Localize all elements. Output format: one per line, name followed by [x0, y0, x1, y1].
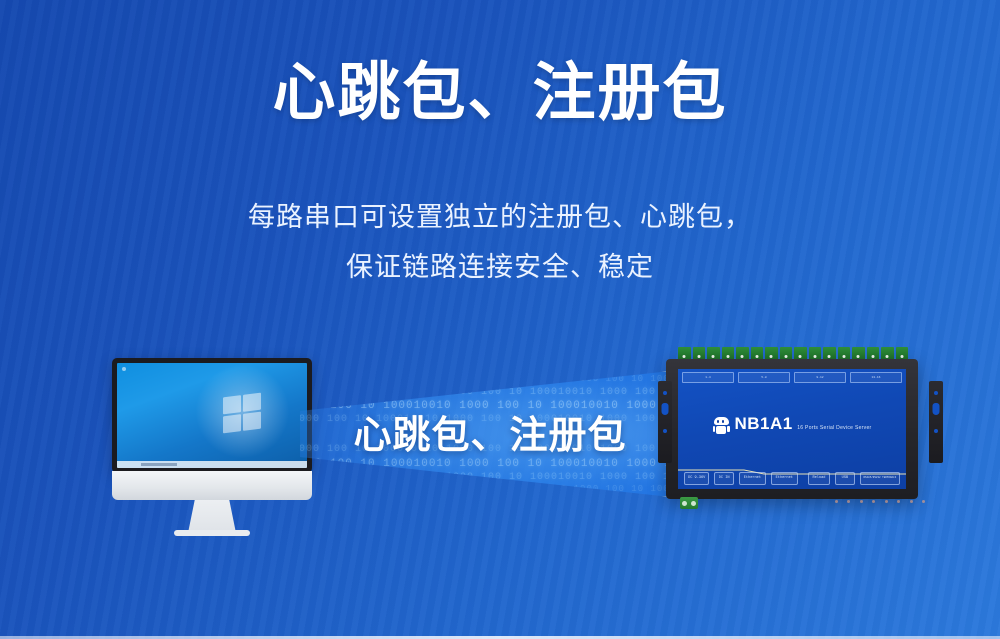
- port-group: 9-12: [794, 372, 846, 383]
- port-label-row: 1-4 5-8 9-12 13-16: [682, 372, 902, 383]
- connector-ethernet-2: Ethernet: [771, 472, 798, 485]
- stream-label: 心跳包、注册包: [300, 404, 680, 459]
- stream-edge-top: [300, 370, 680, 372]
- port-group-label: 13-16: [871, 376, 880, 379]
- mounting-bracket-right: [929, 381, 943, 463]
- reload-button[interactable]: Reload: [808, 472, 830, 485]
- windows-logo-pane: [223, 414, 241, 433]
- binary-row: 1000 100 10 100010010 1000 100 10 100010…: [300, 484, 680, 494]
- mounting-bracket-left: [658, 381, 672, 463]
- monitor-chin: [112, 471, 312, 500]
- page-subtitle: 每路串口可设置独立的注册包、心跳包， 保证链路连接安全、稳定: [0, 193, 1000, 293]
- monitor-frame: [112, 358, 312, 473]
- device-model-name: NB1A1: [735, 414, 793, 433]
- robot-eye: [722, 420, 725, 423]
- monitor-base: [174, 530, 250, 536]
- windows-logo-icon: [223, 392, 261, 433]
- binary-row: 1000 100 10 100010010 1000 100 10 100010…: [300, 387, 680, 398]
- connector-serial-terminals: RS485/RS232 TERMINALS: [860, 472, 900, 485]
- indicator-dot: [847, 500, 850, 503]
- indicator-dot: [910, 500, 913, 503]
- power-terminal-connector: [680, 497, 698, 509]
- device-branding: NB1A1 16 Ports Serial Device Server: [678, 415, 906, 434]
- bracket-keyhole: [662, 403, 669, 415]
- device-brand-text: NB1A1 16 Ports Serial Device Server: [735, 415, 872, 434]
- promo-banner: 心跳包、注册包 每路串口可设置独立的注册包、心跳包， 保证链路连接安全、稳定 1: [0, 0, 1000, 639]
- bracket-keyhole: [933, 403, 940, 415]
- indicator-dot: [897, 500, 900, 503]
- indicator-dot: [872, 500, 875, 503]
- connector-power-range: DC 9-36V: [684, 472, 709, 485]
- indicator-dot: [922, 500, 925, 503]
- indicator-dot: [860, 500, 863, 503]
- binary-row: 1000 100 10 100010010 1000 100 10 100010…: [300, 458, 680, 470]
- connector-dc-in: DC IN: [714, 472, 733, 485]
- monitor-stand: [188, 500, 236, 533]
- robot-arm: [713, 426, 716, 432]
- port-group-label: 9-12: [816, 376, 823, 379]
- bracket-hole: [663, 429, 667, 433]
- serial-device-server: 1-4 5-8 9-12 13-16: [658, 347, 943, 527]
- device-model-subtitle: 16 Ports Serial Device Server: [797, 425, 871, 431]
- windows-logo-pane: [223, 395, 241, 414]
- faceplate-stripe: [678, 469, 906, 471]
- computer-monitor: [112, 358, 312, 533]
- subtitle-line-2: 保证链路连接安全、稳定: [0, 243, 1000, 293]
- bracket-hole: [934, 429, 938, 433]
- device-bottom-connectors: DC 9-36V DC IN Ethernet Ethernet Reload …: [684, 472, 900, 485]
- robot-arm: [727, 426, 730, 432]
- port-group: 13-16: [850, 372, 902, 383]
- robot-eye: [717, 420, 720, 423]
- port-group-label: 5-8: [761, 376, 766, 379]
- device-chassis: 1-4 5-8 9-12 13-16: [666, 359, 918, 499]
- power-terminal-screw: [682, 501, 687, 506]
- binary-row: 1000 100 10 100010010 1000 100 10 100010…: [300, 374, 680, 384]
- windows-logo-pane: [243, 392, 261, 411]
- bracket-hole: [663, 391, 667, 395]
- robot-body: [716, 426, 726, 434]
- screen-desktop-icon: [122, 367, 126, 371]
- monitor-taskbar: [117, 461, 307, 468]
- stream-edge-bottom: [300, 496, 680, 498]
- port-group: 5-8: [738, 372, 790, 383]
- power-terminal-screw: [691, 501, 696, 506]
- page-title: 心跳包、注册包: [0, 58, 1000, 129]
- windows-logo-pane: [243, 411, 261, 430]
- port-group-label: 1-4: [705, 376, 710, 379]
- indicator-dot: [885, 500, 888, 503]
- indicator-dot: [835, 500, 838, 503]
- port-group: 1-4: [682, 372, 734, 383]
- bracket-hole: [934, 391, 938, 395]
- monitor-screen: [117, 363, 307, 468]
- device-faceplate: 1-4 5-8 9-12 13-16: [678, 369, 906, 489]
- robot-icon: [713, 417, 730, 434]
- device-indicator-dots: [835, 500, 925, 503]
- connector-usb: USB: [835, 472, 854, 485]
- connector-ethernet-1: Ethernet: [739, 472, 766, 485]
- binary-row: 1000 100 10 100010010 1000 100 10 100010…: [300, 472, 680, 483]
- subtitle-line-1: 每路串口可设置独立的注册包、心跳包，: [0, 193, 1000, 243]
